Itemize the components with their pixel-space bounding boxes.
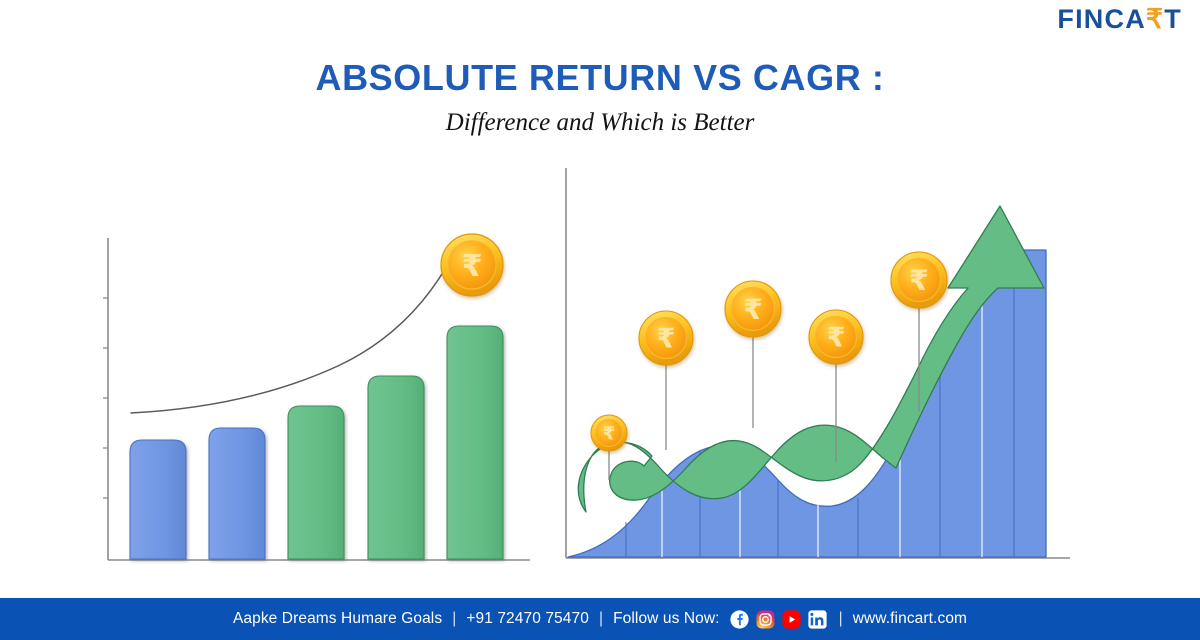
- logo-text-prefix: FINCA: [1057, 4, 1146, 34]
- svg-text:₹: ₹: [827, 323, 846, 354]
- fincart-logo: FINCA₹T: [1057, 6, 1182, 33]
- rupee-coin-4: ₹: [809, 310, 863, 364]
- instagram-icon[interactable]: [756, 610, 775, 629]
- linkedin-icon[interactable]: [808, 610, 827, 629]
- page-subtitle: Difference and Which is Better: [0, 108, 1200, 138]
- cagr-growth-chart: ₹ ₹ ₹: [566, 168, 1070, 558]
- logo-text-suffix: T: [1164, 4, 1182, 34]
- bar-5: [447, 326, 503, 559]
- rupee-coin-2: ₹: [639, 311, 693, 365]
- svg-text:₹: ₹: [462, 249, 483, 284]
- bar-3: [288, 406, 344, 559]
- svg-text:₹: ₹: [743, 293, 762, 326]
- illustration-stage: ₹: [0, 150, 1200, 590]
- left-chart-y-axis: [103, 238, 108, 560]
- footer-follow-label: Follow us Now:: [613, 610, 720, 628]
- logo-rupee-icon: ₹: [1146, 4, 1164, 34]
- bar-4: [368, 376, 424, 559]
- charts-svg: ₹: [0, 150, 1200, 590]
- footer-separator-2: |: [597, 610, 605, 628]
- rupee-coin-3: ₹: [725, 281, 781, 337]
- bar-2: [209, 428, 265, 559]
- social-links: [730, 610, 827, 629]
- footer-separator-3: |: [837, 610, 845, 628]
- rupee-coin-5: ₹: [891, 252, 947, 308]
- poster-canvas: FINCA₹T ABSOLUTE RETURN VS CAGR : Differ…: [0, 0, 1200, 640]
- bar-1: [130, 440, 186, 559]
- footer-website[interactable]: www.fincart.com: [853, 610, 967, 628]
- svg-text:₹: ₹: [657, 324, 676, 355]
- page-title: ABSOLUTE RETURN VS CAGR :: [0, 58, 1200, 98]
- svg-text:₹: ₹: [909, 264, 928, 297]
- footer-tagline: Aapke Dreams Humare Goals: [233, 610, 442, 628]
- facebook-icon[interactable]: [730, 610, 749, 629]
- footer-phone[interactable]: +91 72470 75470: [466, 610, 589, 628]
- absolute-return-bar-chart: ₹: [103, 234, 530, 560]
- footer-separator-1: |: [450, 610, 458, 628]
- youtube-icon[interactable]: [782, 610, 801, 629]
- footer-bar: Aapke Dreams Humare Goals | +91 72470 75…: [0, 598, 1200, 640]
- rupee-coin-1: ₹: [591, 415, 627, 451]
- rupee-coin-icon: ₹: [441, 234, 503, 296]
- svg-text:₹: ₹: [603, 424, 616, 445]
